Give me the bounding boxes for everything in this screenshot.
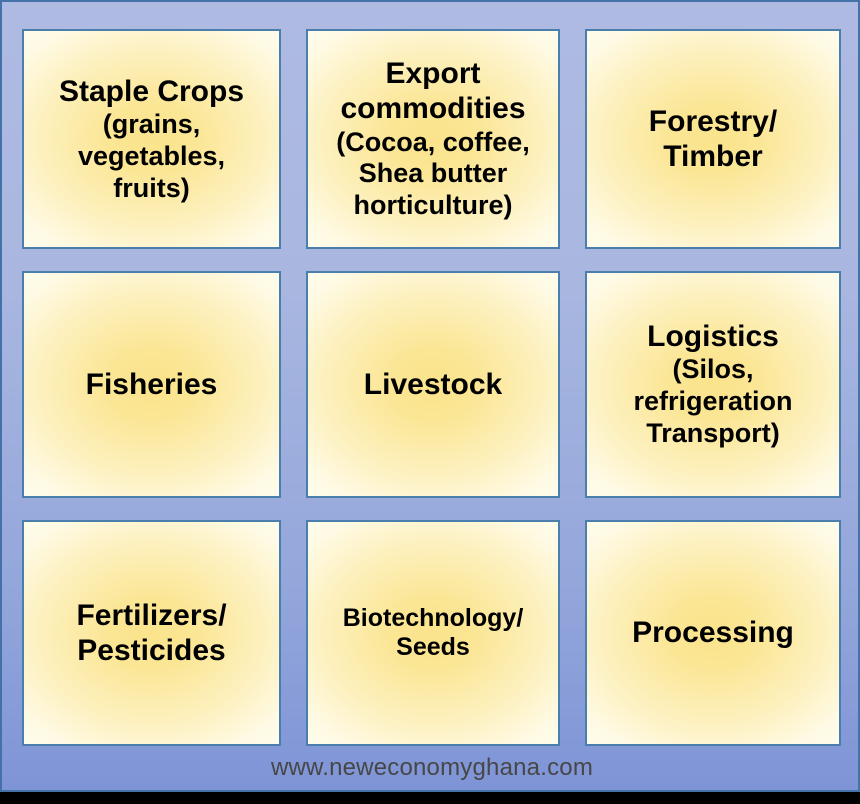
sector-box-label-line: Shea butter [359,158,508,190]
footer-website-url[interactable]: www.neweconomyghana.com [2,754,860,782]
sector-box-label-line: Livestock [364,367,502,402]
slide-panel: Staple Crops(grains,vegetables,fruits)Ex… [0,0,860,792]
sector-box-fisheries[interactable]: Fisheries [22,271,281,498]
sector-box-label-line: (Silos, [672,354,753,386]
sector-box-fertilizers-pesticides[interactable]: Fertilizers/Pesticides [22,520,281,746]
sector-matrix: Staple Crops(grains,vegetables,fruits)Ex… [22,29,842,746]
sector-box-processing[interactable]: Processing [585,520,841,746]
sector-box-label-line: Transport) [646,418,780,450]
sector-box-label-line: Pesticides [77,633,225,668]
sector-box-logistics[interactable]: Logistics(Silos,refrigerationTransport) [585,271,841,498]
sector-box-label-line: Forestry/ [649,104,777,139]
sector-box-label-line: Staple Crops [59,74,244,109]
sector-box-label-line: Fertilizers/ [76,598,226,633]
sector-box-staple-crops[interactable]: Staple Crops(grains,vegetables,fruits) [22,29,281,249]
sector-box-label-line: commodities [340,91,525,126]
sector-box-export-commodities[interactable]: Exportcommodities(Cocoa, coffee,Shea but… [306,29,560,249]
sector-box-label-line: Processing [632,615,794,650]
sector-box-label-line: fruits) [113,173,190,205]
sector-box-forestry-timber[interactable]: Forestry/Timber [585,29,841,249]
sector-box-biotechnology-seeds[interactable]: Biotechnology/Seeds [306,520,560,746]
sector-box-label-line: (Cocoa, coffee, [336,127,530,159]
sector-box-livestock[interactable]: Livestock [306,271,560,498]
sector-box-label-line: Seeds [396,633,470,663]
sector-box-label-line: (grains, [103,109,201,141]
bottom-black-strip [0,792,860,804]
sector-box-label-line: Export [385,56,480,91]
sector-box-label-line: refrigeration [633,386,792,418]
sector-box-label-line: Biotechnology/ [343,604,524,634]
sector-box-label-line: horticulture) [354,190,513,222]
sector-box-label-line: Fisheries [86,367,218,402]
sector-box-label-line: Timber [663,139,762,174]
sector-box-label-line: Logistics [647,319,779,354]
slide-canvas: Staple Crops(grains,vegetables,fruits)Ex… [0,0,860,804]
sector-box-label-line: vegetables, [78,141,225,173]
